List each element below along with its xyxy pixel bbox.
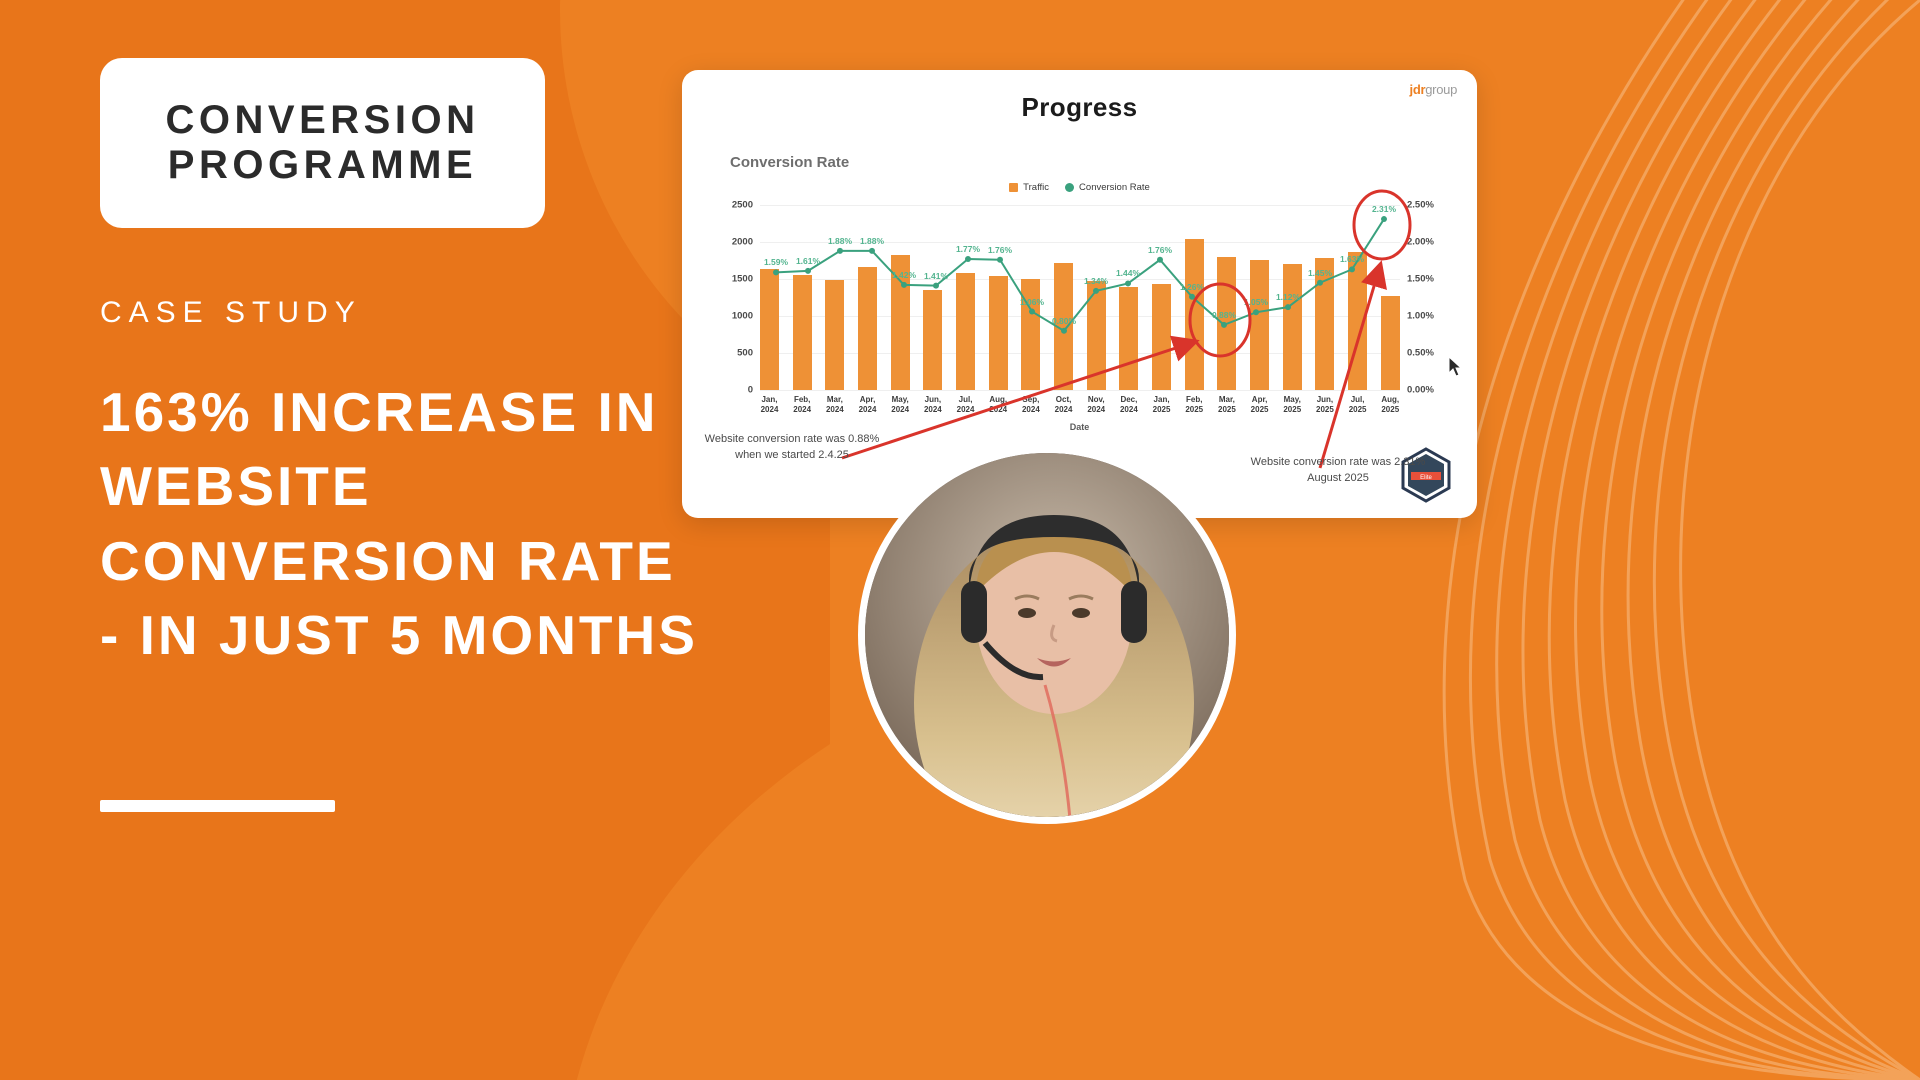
y-axis-tick-right: 1.00%: [1407, 311, 1434, 322]
conversion-rate-data-label: 1.88%: [828, 236, 852, 246]
legend-square-icon: [1009, 183, 1018, 192]
conversion-rate-data-label: 0.88%: [1212, 310, 1236, 320]
conversion-rate-data-label: 1.76%: [988, 245, 1012, 255]
y-axis-tick-right: 2.50%: [1407, 200, 1434, 211]
x-axis-tick-label: Feb,2024: [793, 395, 812, 415]
x-axis-tick-label: Aug,2025: [1381, 395, 1400, 415]
conversion-rate-data-label: 1.06%: [1020, 297, 1044, 307]
conversion-rate-data-label: 1.41%: [924, 271, 948, 281]
legend-item-traffic: Traffic: [1009, 182, 1049, 193]
y-axis-tick-left: 1500: [732, 274, 753, 285]
x-axis-tick-label: Apr,2024: [858, 395, 877, 415]
slide-title: Progress: [682, 92, 1477, 123]
x-axis-tick-label: May,2024: [891, 395, 910, 415]
badge-line-1: CONVERSION: [166, 98, 480, 143]
legend-label-traffic: Traffic: [1023, 182, 1049, 193]
x-axis-tick-label: Nov,2024: [1087, 395, 1106, 415]
y-axis-tick-right: 0.50%: [1407, 348, 1434, 359]
x-axis-tick-label: Apr,2025: [1250, 395, 1269, 415]
conversion-rate-data-label: 1.44%: [1116, 268, 1140, 278]
y-axis-tick-left: 0: [748, 385, 753, 396]
presenter-video-bubble[interactable]: [858, 446, 1236, 824]
jdr-group-logo: jdrgroup: [1410, 82, 1457, 97]
legend-circle-icon: [1065, 183, 1074, 192]
conversion-rate-data-label: 1.12%: [1276, 292, 1300, 302]
chart-gridline: [760, 390, 1400, 391]
mouse-cursor: [1448, 356, 1464, 378]
conversion-rate-data-label: 0.80%: [1052, 316, 1076, 326]
conversion-rate-data-label: 1.05%: [1244, 297, 1268, 307]
y-axis-tick-left: 1000: [732, 311, 753, 322]
case-study-kicker: CASE STUDY: [100, 296, 362, 330]
conversion-rate-data-label: 1.63%: [1340, 254, 1364, 264]
x-axis-tick-label: Sep,2024: [1021, 395, 1040, 415]
x-axis-tick-label: Feb,2025: [1185, 395, 1204, 415]
chart-legend: Traffic Conversion Rate: [682, 182, 1477, 193]
conversion-rate-data-labels: 1.59%1.61%1.88%1.88%1.42%1.41%1.77%1.76%…: [760, 205, 1400, 390]
x-axis-tick-label: Mar,2025: [1217, 395, 1236, 415]
x-axis-title: Date: [682, 422, 1477, 432]
x-axis-tick-label: Oct,2024: [1054, 395, 1073, 415]
logo-primary-text: jdr: [1410, 82, 1426, 97]
conversion-rate-data-label: 1.34%: [1084, 276, 1108, 286]
logo-secondary-text: group: [1425, 82, 1457, 97]
y-axis-tick-left: 2500: [732, 200, 753, 211]
x-axis-tick-label: Jul,2025: [1348, 395, 1367, 415]
conversion-programme-badge: CONVERSION PROGRAMME: [100, 58, 545, 228]
y-axis-tick-right: 1.50%: [1407, 274, 1434, 285]
conversion-rate-data-label: 1.61%: [796, 256, 820, 266]
annotation-note-left: Website conversion rate was 0.88% when w…: [692, 432, 892, 464]
y-axis-tick-right: 0.00%: [1407, 385, 1434, 396]
y-axis-tick-right: 2.00%: [1407, 237, 1434, 248]
y-axis-tick-left: 500: [737, 348, 753, 359]
conversion-rate-data-label: 1.26%: [1180, 282, 1204, 292]
conversion-rate-data-label: 1.45%: [1308, 268, 1332, 278]
annotation-note-right: Website conversion rate was 2.31% August…: [1238, 455, 1438, 487]
page-title: 163% INCREASE IN WEBSITE CONVERSION RATE…: [100, 375, 700, 672]
chart-heading: Conversion Rate: [730, 154, 849, 171]
x-axis-tick-label: Mar,2024: [825, 395, 844, 415]
badge-line-2: PROGRAMME: [168, 143, 477, 188]
progress-bar-thumb[interactable]: [247, 803, 335, 809]
y-axis-tick-left: 2000: [732, 237, 753, 248]
x-axis-tick-label: Jun,2025: [1315, 395, 1334, 415]
x-axis-tick-label: Dec,2024: [1119, 395, 1138, 415]
conversion-rate-data-label: 1.76%: [1148, 245, 1172, 255]
x-axis-tick-label: Jan,2025: [1152, 395, 1171, 415]
conversion-rate-data-label: 1.42%: [892, 270, 916, 280]
x-axis-tick-label: Jun,2024: [923, 395, 942, 415]
conversion-rate-data-label: 1.77%: [956, 244, 980, 254]
x-axis-tick-label: Aug,2024: [989, 395, 1008, 415]
conversion-rate-data-label: 1.88%: [860, 236, 884, 246]
x-axis-tick-label: Jul,2024: [956, 395, 975, 415]
conversion-rate-data-label: 1.59%: [764, 257, 788, 267]
x-axis-tick-label: Jan,2024: [760, 395, 779, 415]
legend-label-conversion-rate: Conversion Rate: [1079, 182, 1150, 193]
conversion-rate-data-label: 2.31%: [1372, 204, 1396, 214]
chart-x-axis-labels: Jan,2024Feb,2024Mar,2024Apr,2024May,2024…: [760, 395, 1400, 415]
x-axis-tick-label: May,2025: [1283, 395, 1302, 415]
legend-item-conversion-rate: Conversion Rate: [1065, 182, 1150, 193]
